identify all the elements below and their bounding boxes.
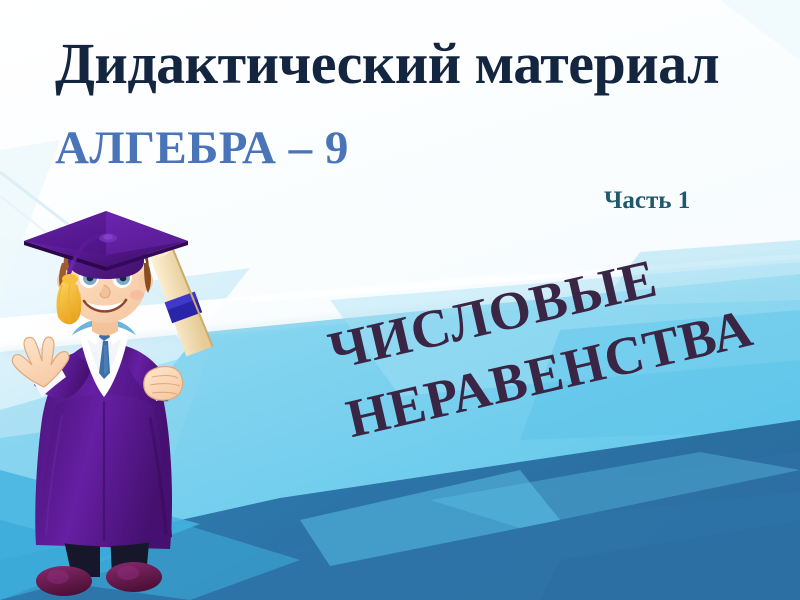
subject-title: АЛГЕБРА – 9 [55,124,349,173]
presentation-slide: Дидактический материал АЛГЕБРА – 9 Часть… [0,0,800,600]
part-label: Часть 1 [604,187,690,215]
page-title: Дидактический материал [55,34,719,95]
graduate-boy-illustration [0,205,300,600]
